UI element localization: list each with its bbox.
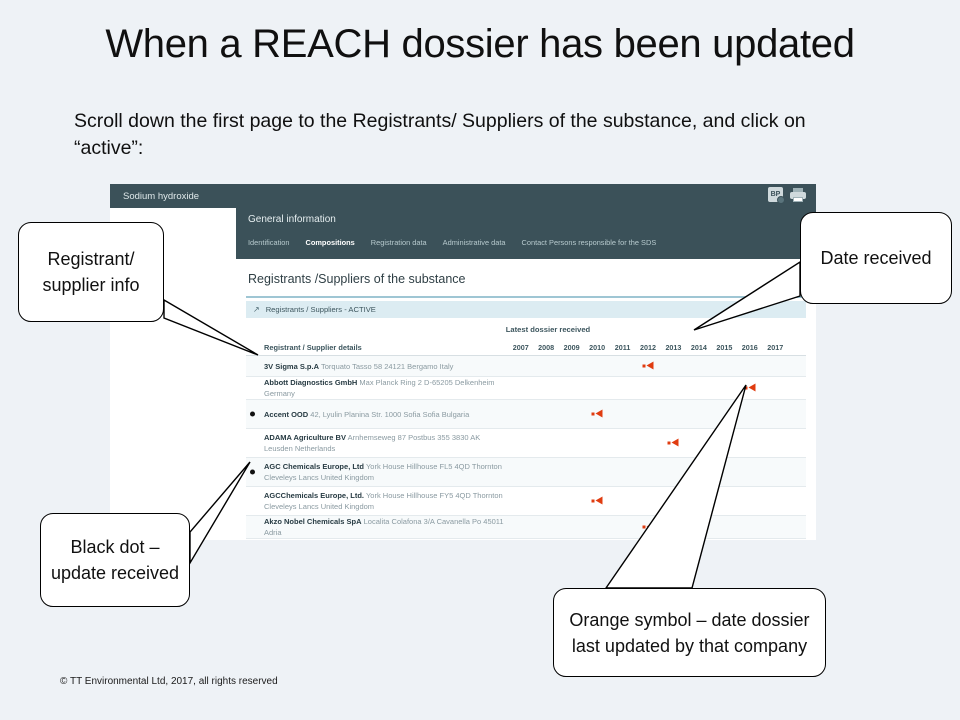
year-cell: [712, 487, 737, 515]
update-received-dot: [250, 412, 255, 417]
year-cell: [584, 377, 609, 399]
year-cell: [533, 487, 558, 515]
embedded-screenshot: Sodium hydroxide BP General information …: [110, 184, 816, 540]
year-cell: [661, 377, 686, 399]
registrant-name-and-address: Accent OOD 42, Lyulin Planina Str. 1000 …: [246, 409, 508, 420]
update-received-dot: [250, 470, 255, 475]
table-row[interactable]: Akzo Nobel Chemicals SpA Localita Colafo…: [246, 516, 806, 539]
year-cells: [508, 400, 788, 428]
year-cell: [737, 516, 762, 538]
year-header: 2010: [584, 343, 609, 352]
registrant-name-and-address: Akzo Nobel Chemicals SpA Localita Colafo…: [246, 516, 508, 538]
table-header-row: Registrant / Supplier details 2007 2008 …: [246, 339, 806, 356]
year-cell: [686, 429, 711, 457]
registrant-name-and-address: AGCChemicals Europe, Ltd. York House Hil…: [246, 490, 508, 512]
year-cell: [661, 429, 686, 457]
column-header-registrant-details: Registrant / Supplier details: [246, 343, 508, 352]
registrant-company-name: Abbott Diagnostics GmbH: [264, 378, 357, 387]
year-cells: [508, 458, 788, 486]
year-cells: [508, 377, 788, 399]
callout-date-received: Date received: [800, 212, 952, 304]
year-cell: [763, 356, 788, 376]
year-cell: [584, 458, 609, 486]
year-cell: [737, 487, 762, 515]
latest-dossier-received-label: Latest dossier received: [236, 325, 816, 334]
year-cell: [661, 516, 686, 538]
year-cell: [508, 487, 533, 515]
copyright-notice: © TT Environmental Ltd, 2017, all rights…: [60, 676, 278, 687]
year-cell: [584, 429, 609, 457]
table-row[interactable]: AGCChemicals Europe, Ltd. York House Hil…: [246, 487, 806, 516]
year-cells: [508, 429, 788, 457]
callout-registrant-supplier-info: Registrant/ supplier info: [18, 222, 164, 322]
registrants-active-group-header[interactable]: ↗ Registrants / Suppliers - ACTIVE: [246, 301, 806, 318]
year-cell: [763, 487, 788, 515]
year-cell: [559, 487, 584, 515]
year-cell: [508, 458, 533, 486]
year-cell: [584, 487, 609, 515]
year-cell: [763, 458, 788, 486]
year-cell: [610, 377, 635, 399]
year-cell: [763, 377, 788, 399]
year-cell: [686, 356, 711, 376]
year-cell: [610, 400, 635, 428]
year-cell: [635, 429, 660, 457]
slide-subtitle: Scroll down the first page to the Regist…: [74, 108, 834, 162]
year-cell: [610, 487, 635, 515]
year-header: 2015: [712, 343, 737, 352]
year-cell: [508, 516, 533, 538]
year-cell: [533, 356, 558, 376]
year-cell: [559, 377, 584, 399]
year-cell: [712, 400, 737, 428]
year-header: 2008: [533, 343, 558, 352]
dossier-update-marker-icon: [668, 439, 679, 448]
year-column-headers: 2007 2008 2009 2010 2011 2012 2013 2014 …: [508, 343, 788, 352]
dossier-update-marker-icon: [744, 384, 755, 393]
table-row[interactable]: 3V Sigma S.p.A Torquato Tasso 58 24121 B…: [246, 356, 806, 377]
year-cell: [661, 356, 686, 376]
year-header: 2013: [661, 343, 686, 352]
general-information-nav: General information Identification Compo…: [236, 208, 816, 259]
registrant-company-name: ADAMA Agriculture BV: [264, 433, 346, 442]
year-cell: [559, 400, 584, 428]
year-cell: [559, 516, 584, 538]
registrant-name-and-address: AGC Chemicals Europe, Ltd York House Hil…: [246, 461, 508, 483]
tab-registration-data[interactable]: Registration data: [371, 238, 443, 247]
callout-black-dot: Black dot – update received: [40, 513, 190, 607]
registrant-company-name: AGC Chemicals Europe, Ltd: [264, 462, 364, 471]
year-cell: [712, 458, 737, 486]
page-title: When a REACH dossier has been updated: [0, 22, 960, 67]
year-cell: [763, 400, 788, 428]
year-cell: [686, 516, 711, 538]
topbar-icon-group: BP: [768, 187, 806, 202]
registrant-name-and-address: 3V Sigma S.p.A Torquato Tasso 58 24121 B…: [246, 361, 508, 372]
year-header: 2009: [559, 343, 584, 352]
year-cell: [763, 429, 788, 457]
year-cell: [737, 377, 762, 399]
registrant-name-and-address: Abbott Diagnostics GmbH Max Planck Ring …: [246, 377, 508, 399]
year-cell: [533, 377, 558, 399]
screenshot-topbar: Sodium hydroxide BP: [110, 184, 816, 208]
registrant-company-name: 3V Sigma S.p.A: [264, 362, 319, 371]
year-cell: [584, 356, 609, 376]
registrants-heading: Registrants /Suppliers of the substance: [248, 272, 465, 286]
registrants-panel: Registrants /Suppliers of the substance …: [236, 259, 816, 540]
callout-orange-symbol: Orange symbol – date dossier last update…: [553, 588, 826, 677]
dossier-update-marker-icon: [693, 468, 704, 477]
year-cell: [508, 356, 533, 376]
year-cell: [508, 400, 533, 428]
table-row[interactable]: Abbott Diagnostics GmbH Max Planck Ring …: [246, 377, 806, 400]
year-header: 2012: [635, 343, 660, 352]
year-cell: [610, 429, 635, 457]
heading-underline: [246, 296, 806, 298]
year-cell: [559, 429, 584, 457]
year-cell: [559, 356, 584, 376]
table-row[interactable]: ADAMA Agriculture BV Arnhemseweg 87 Post…: [246, 429, 806, 458]
year-cell: [763, 516, 788, 538]
year-cell: [712, 377, 737, 399]
year-cell: [584, 516, 609, 538]
tab-administrative-data[interactable]: Administrative data: [443, 238, 522, 247]
table-row[interactable]: AGC Chemicals Europe, Ltd York House Hil…: [246, 458, 806, 487]
year-cell: [610, 458, 635, 486]
year-cell: [610, 516, 635, 538]
table-row[interactable]: Accent OOD 42, Lyulin Planina Str. 1000 …: [246, 400, 806, 429]
year-cell: [559, 458, 584, 486]
year-cell: [635, 516, 660, 538]
year-cell: [737, 356, 762, 376]
dossier-update-marker-icon: [642, 523, 653, 532]
year-cell: [635, 400, 660, 428]
year-cell: [737, 458, 762, 486]
year-cell: [712, 516, 737, 538]
year-cell: [661, 458, 686, 486]
year-cell: [686, 377, 711, 399]
year-cell: [635, 458, 660, 486]
callout-text: Registrant/ supplier info: [19, 242, 163, 302]
bp-icon[interactable]: BP: [768, 187, 783, 202]
year-header: 2011: [610, 343, 635, 352]
year-cell: [635, 487, 660, 515]
year-cell: [686, 458, 711, 486]
callout-text: Black dot – update received: [41, 530, 189, 590]
year-cell: [635, 377, 660, 399]
registrant-company-name: Akzo Nobel Chemicals SpA: [264, 517, 362, 526]
year-header: 2017: [763, 343, 788, 352]
slide: When a REACH dossier has been updated Sc…: [0, 0, 960, 720]
year-cells: [508, 516, 788, 538]
year-cell: [737, 400, 762, 428]
general-information-label: General information: [248, 214, 336, 225]
year-cell: [712, 429, 737, 457]
year-header: 2014: [686, 343, 711, 352]
tab-compositions[interactable]: Compositions: [306, 238, 371, 247]
substance-name: Sodium hydroxide: [123, 191, 199, 202]
dossier-update-marker-icon: [642, 362, 653, 371]
year-cell: [712, 356, 737, 376]
year-cell: [686, 400, 711, 428]
year-cell: [661, 400, 686, 428]
year-header: 2016: [737, 343, 762, 352]
year-cell: [737, 429, 762, 457]
tab-contact-persons[interactable]: Contact Persons responsible for the SDS: [522, 238, 673, 247]
tab-identification[interactable]: Identification: [248, 238, 306, 247]
year-cell: [508, 429, 533, 457]
year-header: 2007: [508, 343, 533, 352]
year-cell: [533, 516, 558, 538]
chevron-expand-icon: ↗: [253, 305, 260, 314]
active-group-label: Registrants / Suppliers - ACTIVE: [266, 305, 376, 314]
year-cell: [584, 400, 609, 428]
registrant-company-name: Accent OOD: [264, 410, 308, 419]
year-cells: [508, 487, 788, 515]
callout-text: Orange symbol – date dossier last update…: [554, 603, 825, 663]
year-cell: [610, 356, 635, 376]
table-body: 3V Sigma S.p.A Torquato Tasso 58 24121 B…: [246, 356, 806, 539]
year-cell: [686, 487, 711, 515]
registrants-table: Registrant / Supplier details 2007 2008 …: [246, 339, 806, 539]
year-cell: [533, 458, 558, 486]
year-cell: [533, 429, 558, 457]
year-cells: [508, 356, 788, 376]
dossier-update-marker-icon: [592, 497, 603, 506]
registrant-company-name: AGCChemicals Europe, Ltd.: [264, 491, 364, 500]
year-cell: [508, 377, 533, 399]
callout-text: Date received: [812, 241, 939, 275]
registrant-name-and-address: ADAMA Agriculture BV Arnhemseweg 87 Post…: [246, 432, 508, 454]
nav-tab-list: Identification Compositions Registration…: [248, 238, 672, 247]
dossier-update-marker-icon: [592, 410, 603, 419]
printer-icon[interactable]: [790, 188, 806, 202]
year-cell: [533, 400, 558, 428]
year-cell: [661, 487, 686, 515]
year-cell: [635, 356, 660, 376]
